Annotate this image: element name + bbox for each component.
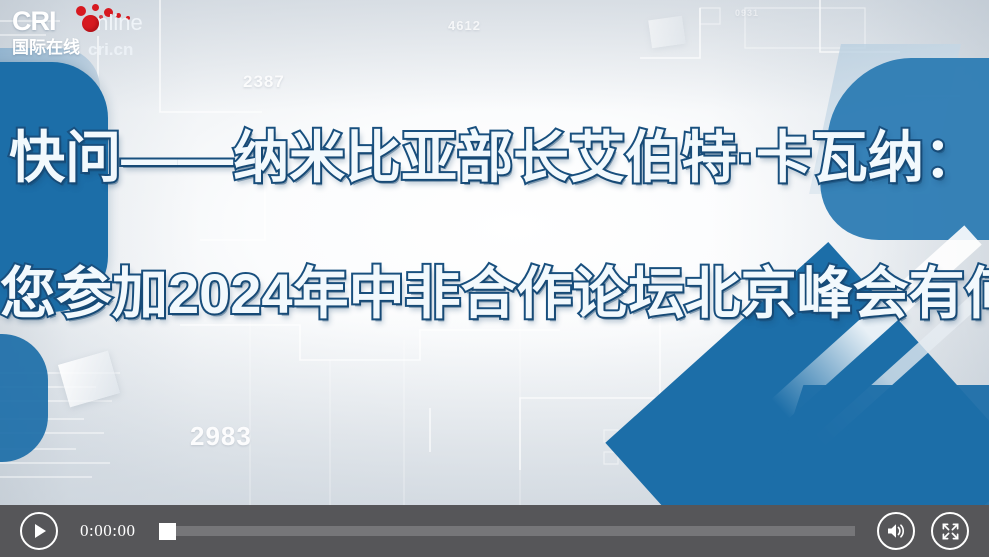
headline-line-2: 您参加2024年中非合作论坛北京峰会有何感受？: [0, 258, 989, 330]
watermark-number: 2983: [190, 421, 252, 452]
headline-line-1: 快问——纳米比亚部长艾伯特·卡瓦纳：: [0, 122, 989, 194]
play-icon: [35, 524, 46, 538]
logo-top-row: CRI online: [8, 4, 174, 38]
progress-bar-handle[interactable]: [159, 523, 176, 540]
logo-bottom-row: 国际在线 cri.cn: [8, 38, 174, 62]
progress-bar-track[interactable]: [159, 526, 855, 536]
fullscreen-icon: [941, 522, 960, 541]
logo-brand-main: CRI: [12, 6, 56, 36]
paper-glint: [648, 16, 686, 48]
watermark-number: 4612: [448, 18, 481, 33]
logo-name-cn: 国际在线: [12, 38, 80, 58]
poster-headline: 快问——纳米比亚部长艾伯特·卡瓦纳： 您参加2024年中非合作论坛北京峰会有何感…: [0, 122, 989, 330]
volume-icon: [886, 522, 906, 540]
logo-red-dot-icon: [82, 15, 99, 32]
volume-button[interactable]: [877, 512, 915, 550]
current-time-label: 0:00:00: [80, 521, 135, 541]
play-button[interactable]: [20, 512, 58, 550]
cri-online-logo: CRI online 国际在线 cri.cn: [8, 4, 174, 66]
fullscreen-button[interactable]: [931, 512, 969, 550]
video-player: 2387 4612 2983 8158 0931 CRI: [0, 0, 989, 557]
watermark-number: 2387: [243, 72, 285, 92]
player-control-bar: 0:00:00: [0, 505, 989, 557]
logo-url: cri.cn: [88, 40, 133, 60]
video-poster-stage[interactable]: 2387 4612 2983 8158 0931 CRI: [0, 0, 989, 505]
watermark-number: 0931: [735, 8, 759, 18]
